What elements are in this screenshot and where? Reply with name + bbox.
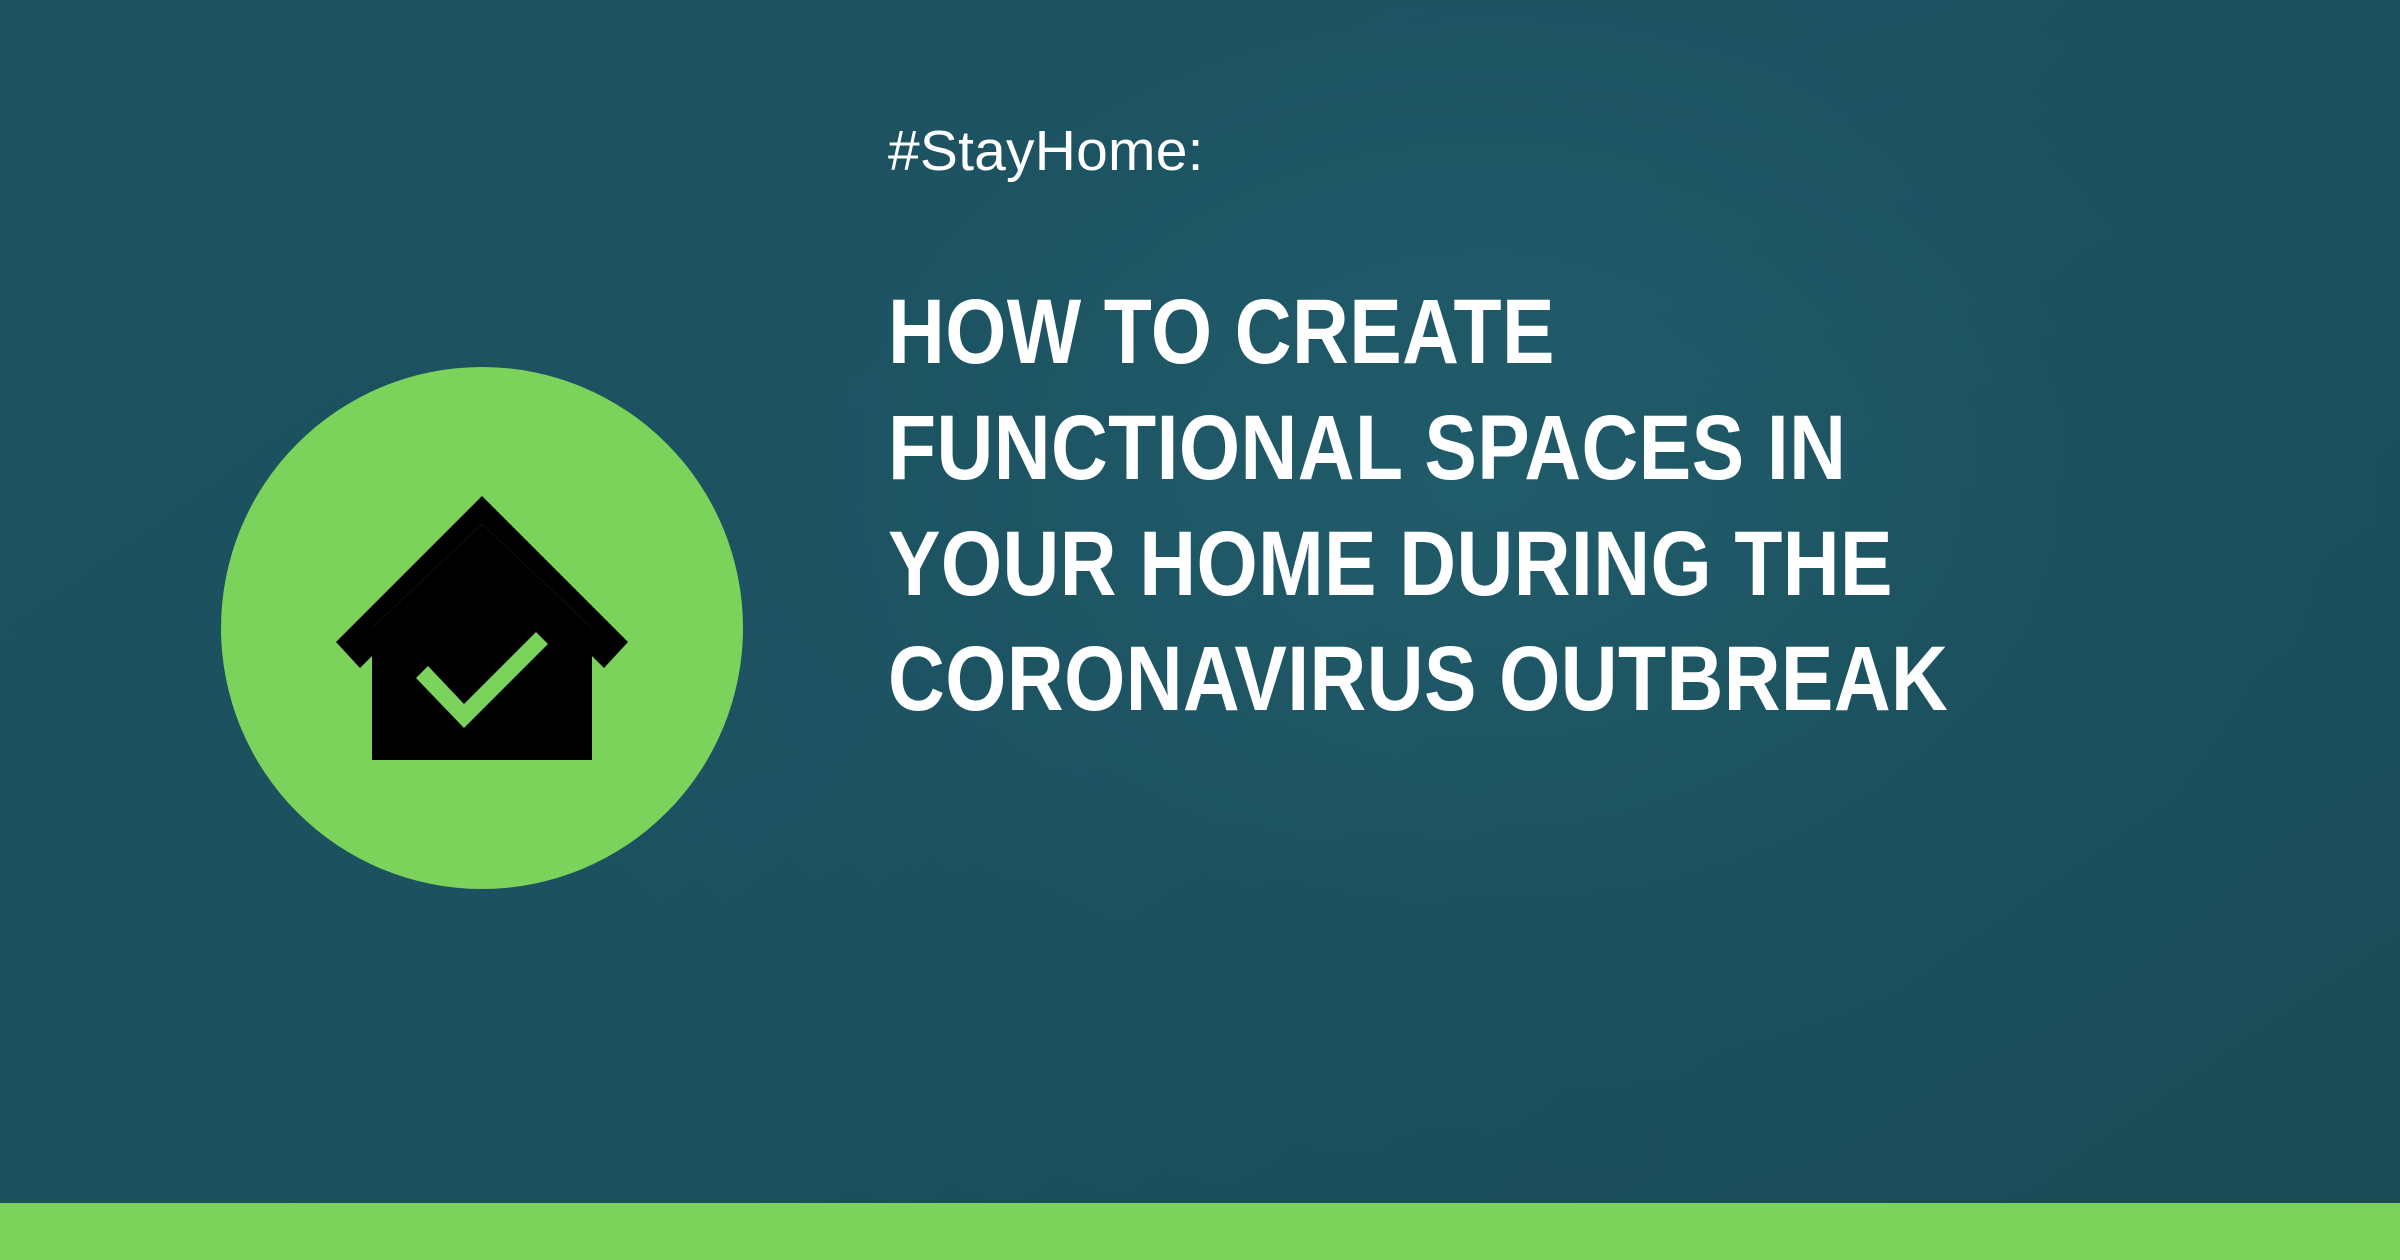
icon-badge xyxy=(221,367,743,889)
headline-line-2: FUNCTIONAL SPACES IN xyxy=(888,391,2102,507)
headline-line-1: HOW TO CREATE xyxy=(888,275,2102,391)
bottom-accent-bar xyxy=(0,1203,2400,1260)
house-with-checkmark-icon xyxy=(332,478,632,778)
headline-line-3: YOUR HOME DURING THE xyxy=(888,507,2102,623)
headline-line-4: CORONAVIRUS OUTBREAK xyxy=(888,622,2102,738)
headline-block: #StayHome: HOW TO CREATE FUNCTIONAL SPAC… xyxy=(888,120,2308,738)
kicker-hashtag: #StayHome: xyxy=(888,120,2308,183)
promo-banner: #StayHome: HOW TO CREATE FUNCTIONAL SPAC… xyxy=(0,0,2400,1260)
house-body-with-check-cutout xyxy=(372,524,592,760)
headline-group: HOW TO CREATE FUNCTIONAL SPACES IN YOUR … xyxy=(888,275,2308,739)
